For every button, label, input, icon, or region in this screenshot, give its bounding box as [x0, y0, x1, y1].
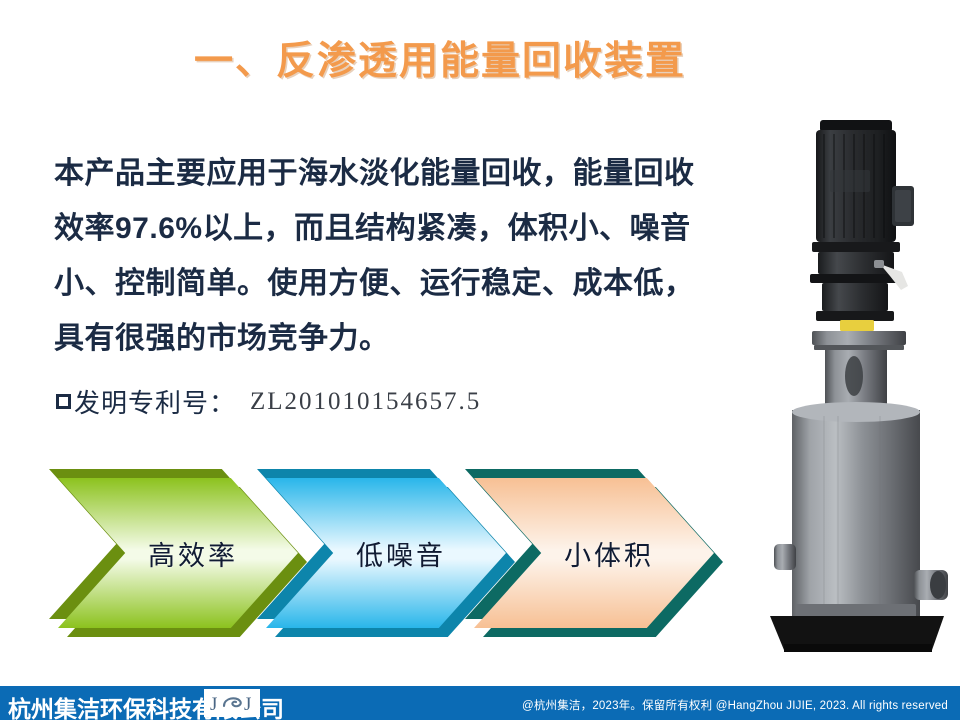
logo-letter-left: J: [210, 694, 217, 715]
suction-port: [774, 544, 796, 570]
patent-label: 发明专利号：: [74, 383, 236, 420]
motor-nameplate: [830, 170, 870, 192]
footer-copyright: @杭州集洁，2023年。保留所有权利 @HangZhou JIJIE, 2023…: [522, 697, 948, 713]
logo-swirl-icon: [224, 698, 241, 706]
chevron-label: 低噪音: [266, 478, 506, 628]
page-title: 一、反渗透用能量回收装置: [0, 30, 880, 86]
company-logo: J J: [204, 689, 260, 717]
discharge-flange: [812, 331, 906, 345]
vessel-top-cap: [792, 402, 920, 422]
motor-flange: [812, 242, 900, 252]
chevron-label: 高效率: [58, 478, 298, 628]
valve-body: [874, 260, 884, 268]
pump-head-base: [816, 311, 894, 321]
patent-number: ZL201010154657.5: [250, 388, 481, 416]
lantern-window: [845, 356, 863, 396]
junction-box-lid: [895, 190, 911, 222]
logo-mark-icon: J J: [206, 691, 258, 715]
logo-letter-right: J: [244, 694, 251, 715]
feature-chevron-band: 高效率 低噪音 小体积: [58, 478, 698, 633]
chevron-label: 小体积: [474, 478, 714, 628]
base-foot: [784, 644, 932, 652]
pressure-vessel: [792, 410, 920, 622]
product-photo: [762, 104, 958, 656]
vessel-bottom-flange: [796, 604, 916, 618]
chevron-high-efficiency: 高效率: [58, 478, 298, 628]
pump-head: [822, 283, 888, 311]
chevron-small-volume: 小体积: [474, 478, 714, 628]
pump-head-flange: [810, 274, 902, 283]
patent-line: 发明专利号： ZL201010154657.5: [56, 383, 481, 420]
discharge-port-opening: [930, 571, 946, 599]
warning-label: [840, 320, 874, 331]
flange-gasket: [814, 345, 904, 350]
square-bullet-icon: [56, 394, 71, 409]
chevron-low-noise: 低噪音: [266, 478, 506, 628]
body-paragraph: 本产品主要应用于海水淡化能量回收，能量回收效率97.6%以上，而且结构紧凑，体积…: [54, 146, 704, 366]
